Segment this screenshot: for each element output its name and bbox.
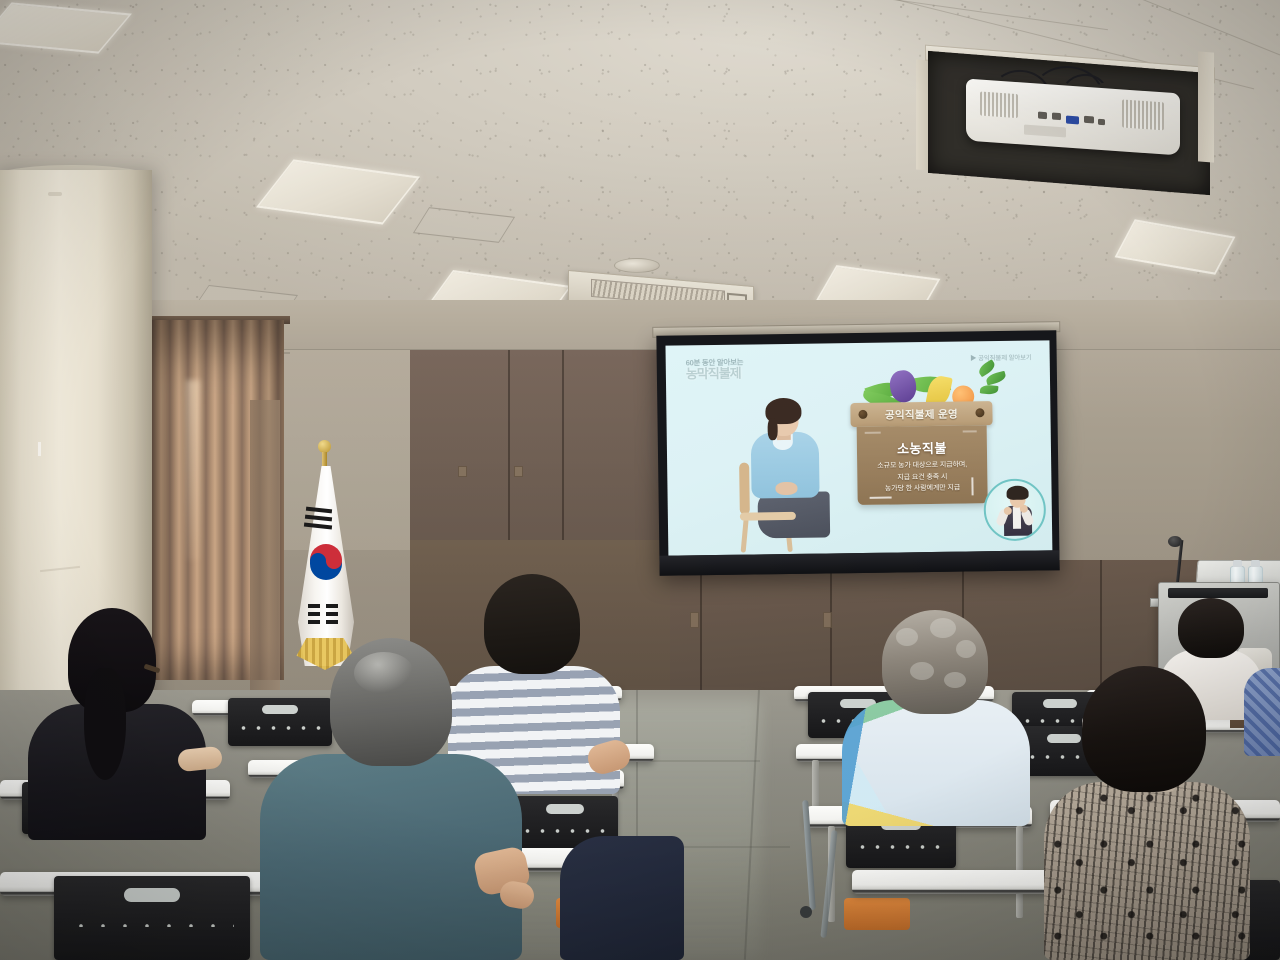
- person-torso: [842, 700, 1030, 826]
- chair-perforations: [520, 828, 609, 833]
- slide-sign-title: 소농직불: [857, 437, 987, 458]
- sign-tick: [865, 432, 881, 434]
- trigram-bar: [326, 612, 338, 616]
- slide-sign-body: 소농직불 소규모 농가 대상으로 지급하며, 지급 요건 충족 시 농가당 한 …: [857, 425, 988, 505]
- screen-surface: 60분 동안 알아보는 농막직불제 ▶ 공익직불제 알아보기: [665, 340, 1052, 555]
- audience-member-p1: [28, 608, 208, 840]
- chair-leg-prop: [741, 518, 749, 552]
- cabinet-handle-icon[interactable]: [514, 466, 523, 477]
- chair-perforations: [70, 922, 235, 927]
- audience-member-p2: [260, 638, 528, 960]
- projector-port: [1084, 116, 1094, 124]
- presenter-hands: [775, 482, 797, 495]
- window-light-gap: [186, 380, 200, 560]
- slide-sign-header-text: 공익직불제 운영: [885, 406, 958, 422]
- cane-foot: [800, 906, 812, 918]
- sign-language-interpreter-inset: [983, 478, 1046, 541]
- hair-highlight: [354, 652, 414, 694]
- interpreter-hand: [1004, 507, 1012, 515]
- slide-presenter-figure: [738, 401, 836, 552]
- hair-curl: [956, 640, 976, 658]
- person-head: [1082, 666, 1206, 792]
- column-scuff: [48, 192, 62, 196]
- projector-port: [1038, 112, 1047, 120]
- trigram-bar: [308, 604, 320, 608]
- chair-handle-icon: [124, 888, 180, 902]
- column-highlight: [38, 442, 41, 456]
- trigram-bar: [308, 620, 320, 624]
- sign-tick: [870, 497, 892, 499]
- audience-member-p4: [838, 610, 1034, 820]
- ceiling-sensor-icon: [614, 258, 660, 273]
- person-torso: [1044, 782, 1250, 960]
- podium-equipment-slot: [1168, 588, 1268, 598]
- hair-curl: [944, 672, 966, 688]
- person-legs: [560, 836, 684, 960]
- slide-sign-header: 공익직불제 운영: [850, 401, 992, 427]
- person-head: [330, 638, 452, 766]
- person-head: [1178, 598, 1244, 658]
- sprig-icon: [980, 384, 999, 395]
- presenter-ponytail: [768, 418, 778, 440]
- interpreter-hair: [1006, 486, 1028, 500]
- cabinet-handle-icon[interactable]: [458, 466, 467, 477]
- taegeuk-curve-blue: [310, 553, 326, 569]
- projector-vent: [1122, 99, 1164, 130]
- seminar-room-photo: 60분 동안 알아보는 농막직불제 ▶ 공익직불제 알아보기: [0, 0, 1280, 960]
- projector-housing-side: [1198, 51, 1214, 162]
- bottle-cap: [1233, 560, 1242, 567]
- projector-port: [1098, 119, 1105, 125]
- projection-screen: 60분 동안 알아보는 농막직불제 ▶ 공익직불제 알아보기: [656, 330, 1059, 576]
- projector-port: [1052, 113, 1061, 121]
- column-scratch: [40, 566, 80, 572]
- cabinet-handle-icon[interactable]: [823, 612, 832, 628]
- taegeuk-curve-red: [326, 553, 342, 569]
- projector-vent: [980, 91, 1018, 118]
- projector-vga-port: [1066, 116, 1079, 125]
- trigram-bar: [308, 612, 320, 616]
- cabinet-handle-icon[interactable]: [690, 612, 699, 628]
- chair-seat-prop: [740, 512, 796, 521]
- slide-body-line3: 농가당 한 사람에게만 지급: [857, 482, 987, 495]
- projector-label: [1024, 125, 1066, 138]
- chair-handle-icon: [546, 804, 584, 814]
- chair-seat[interactable]: [844, 898, 910, 930]
- slide-logo-line2: 농막직불제: [686, 366, 744, 380]
- slide-logo: 60분 동안 알아보는 농막직불제: [686, 359, 744, 381]
- person-head: [882, 610, 988, 714]
- hair-curl: [896, 628, 918, 646]
- chair-perforations: [855, 844, 947, 849]
- sign-tick: [971, 477, 973, 495]
- sign-tick: [963, 430, 977, 432]
- bolt-icon: [975, 408, 984, 417]
- bolt-icon: [858, 410, 867, 419]
- chair[interactable]: [54, 876, 250, 960]
- hair-curl: [930, 618, 956, 638]
- chair-back-prop: [739, 463, 750, 515]
- slide-body-lines: 소규모 농가 대상으로 지급하며, 지급 요건 충족 시 농가당 한 사람에게만…: [857, 459, 987, 495]
- bottle-cap: [1251, 560, 1260, 567]
- hair-curl: [910, 662, 934, 680]
- trigram-bar: [326, 604, 338, 608]
- audience-member-p5: [1044, 666, 1254, 960]
- slide-topright-link: ▶ 공익직불제 알아보기: [970, 352, 1032, 363]
- person-ponytail: [84, 668, 126, 780]
- desk: [852, 870, 1072, 894]
- trigram-bar: [326, 620, 338, 624]
